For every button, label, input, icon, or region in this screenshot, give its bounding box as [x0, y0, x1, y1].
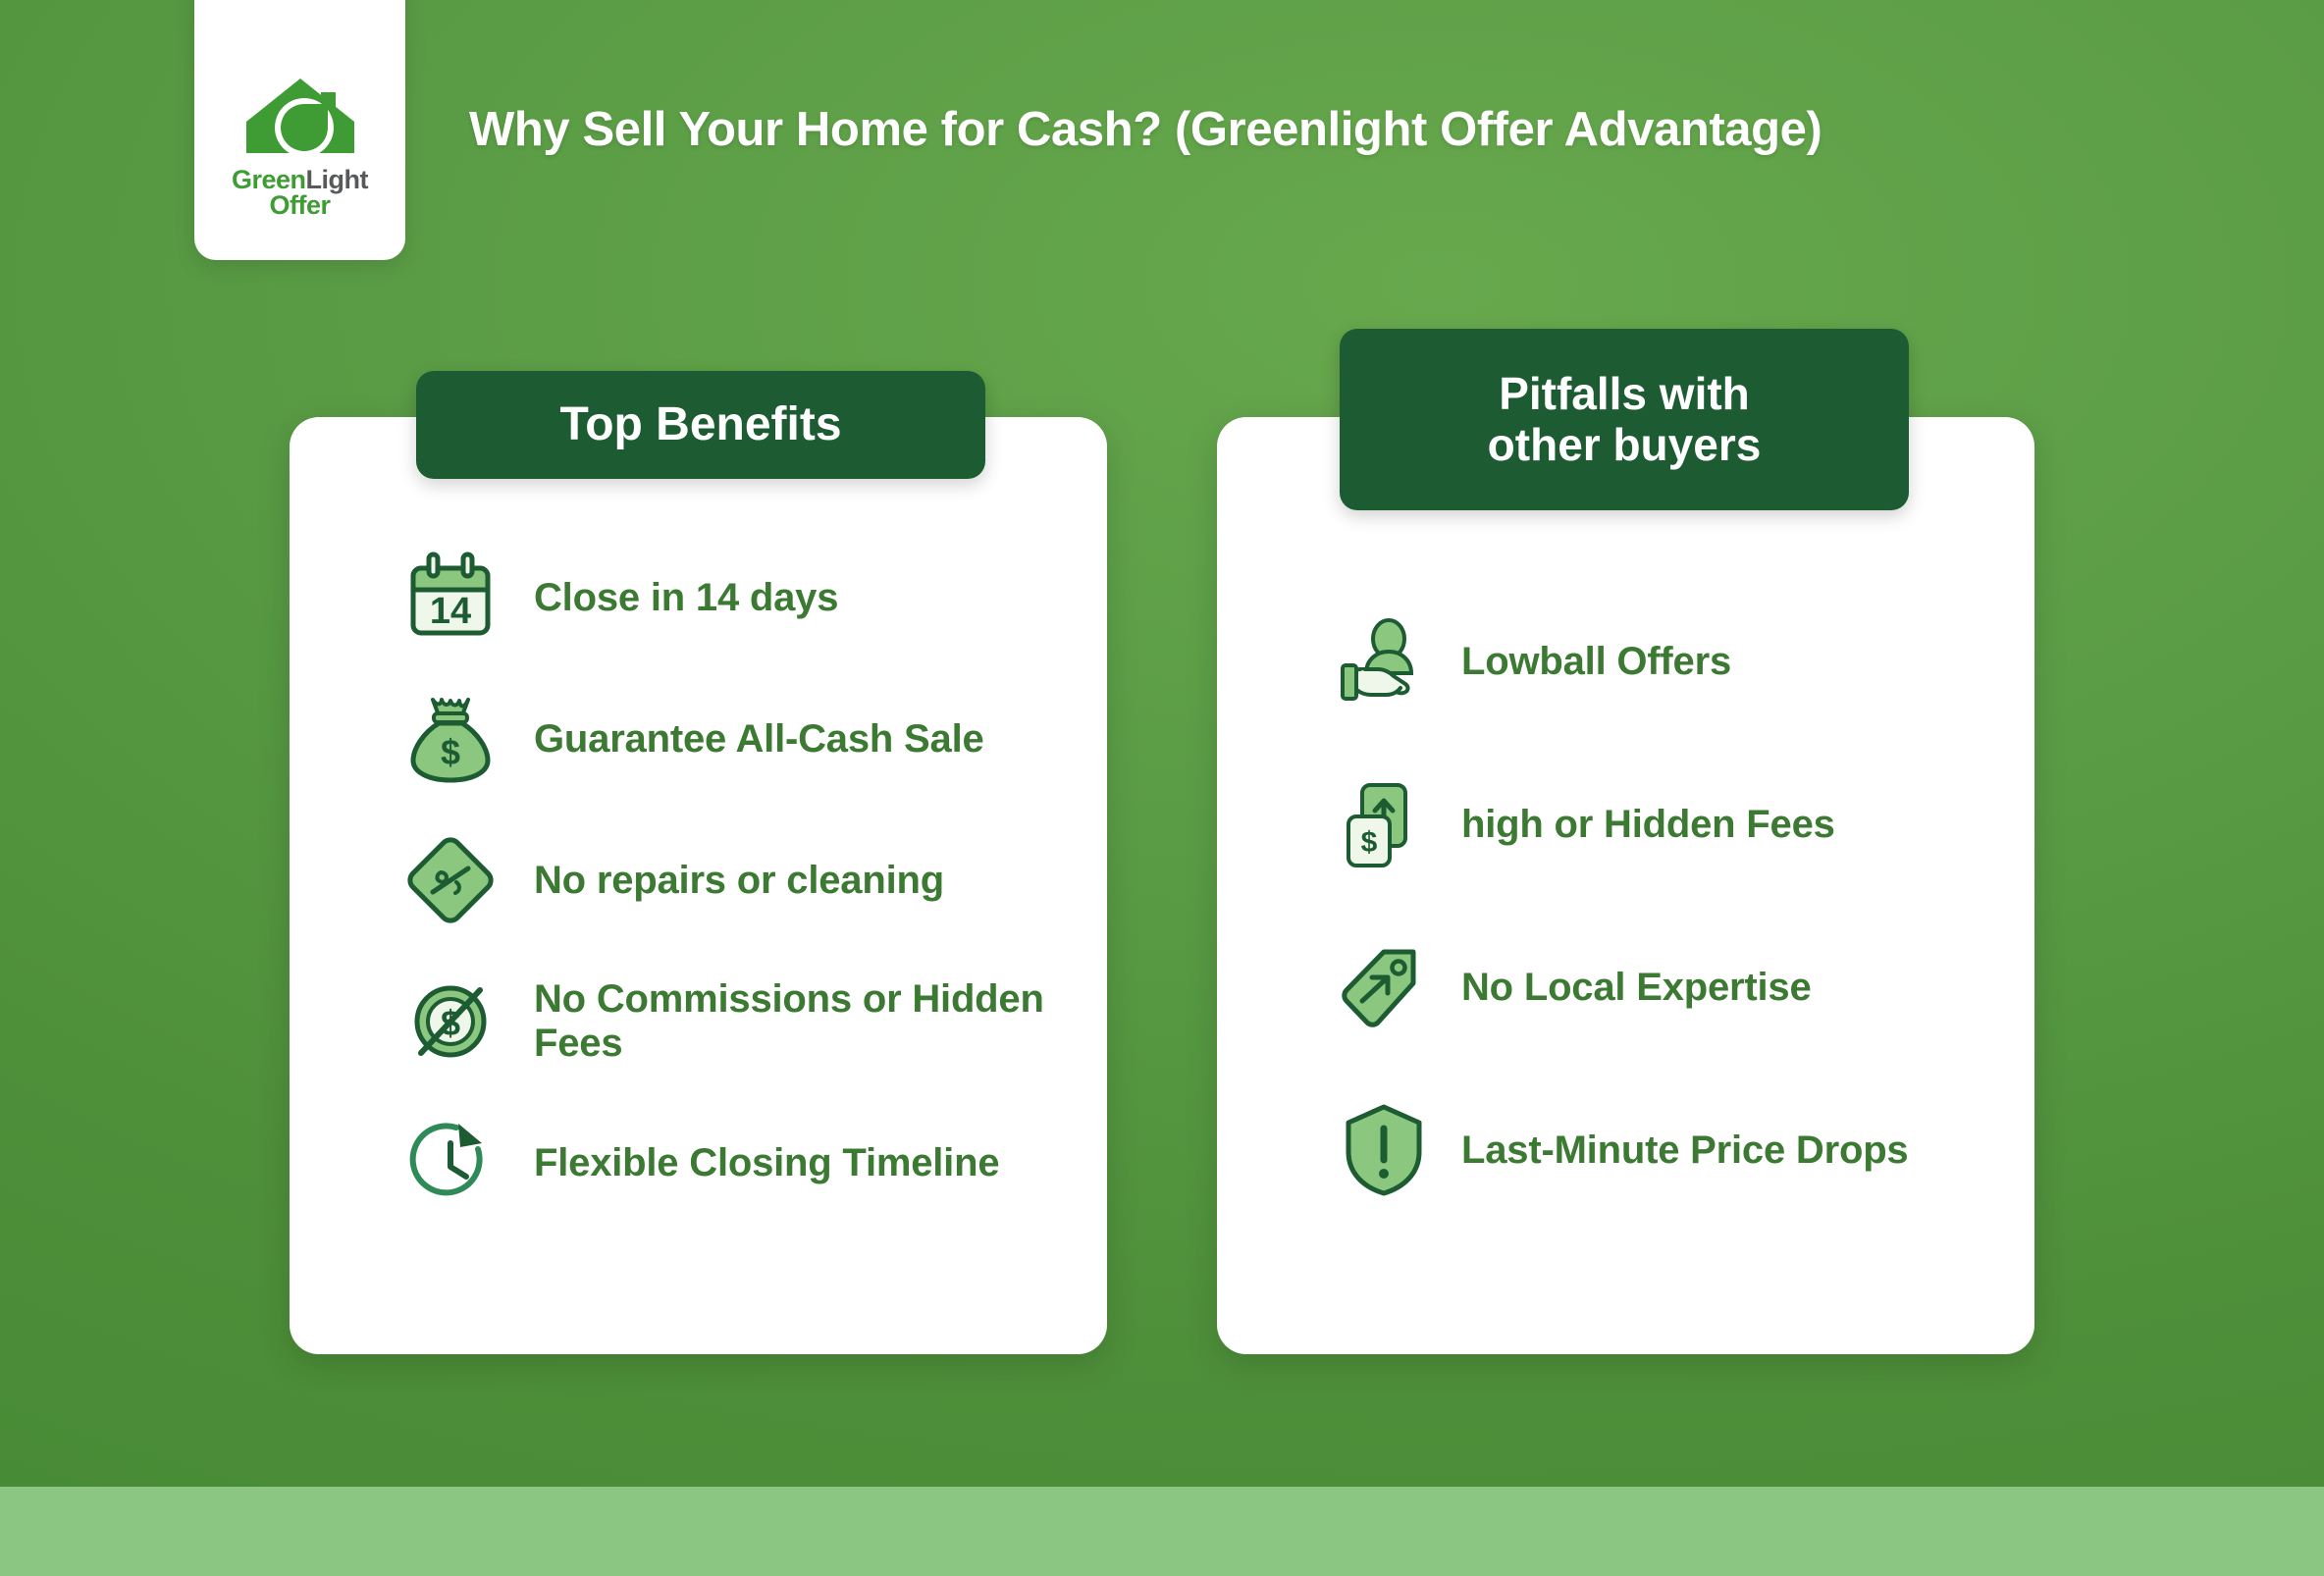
list-item: 14 Close in 14 days: [396, 545, 1064, 651]
no-dollar-circle-icon: $: [396, 969, 504, 1075]
list-item-label: Flexible Closing Timeline: [534, 1141, 999, 1185]
logo-wordmark: GreenLight: [212, 168, 389, 192]
pitfalls-badge-line2: other buyers: [1488, 419, 1762, 470]
list-item-label: high or Hidden Fees: [1461, 803, 1835, 847]
benefits-list: 14 Close in 14 days $ Guarantee All-Cash…: [396, 545, 1064, 1216]
calendar-14-icon: 14: [396, 545, 504, 651]
infographic-stage: GreenLight Offer Why Sell Your Home for …: [0, 0, 2324, 1576]
list-item-label: No repairs or cleaning: [534, 859, 944, 903]
list-item-label: Guarantee All-Cash Sale: [534, 717, 984, 762]
logo-card: GreenLight Offer: [194, 0, 405, 260]
list-item: No repairs or cleaning: [396, 827, 1064, 933]
list-item: No Local Expertise: [1330, 934, 1997, 1040]
bottom-band: [0, 1487, 2324, 1576]
pitfalls-badge-line1: Pitfalls with: [1499, 368, 1750, 419]
pitfalls-badge: Pitfalls with other buyers: [1340, 329, 1909, 510]
hand-person-icon: [1330, 608, 1438, 714]
no-repairs-diamond-icon: [396, 827, 504, 933]
pitfalls-list: Lowball Offers $ high or Hidden Fees: [1330, 608, 1997, 1203]
list-item-label: Lowball Offers: [1461, 640, 1731, 684]
money-bag-icon: $: [396, 686, 504, 792]
page-title: Why Sell Your Home for Cash? (Greenlight…: [469, 102, 2157, 157]
list-item: Lowball Offers: [1330, 608, 1997, 714]
list-item: $ No Commissions or Hidden Fees: [396, 969, 1064, 1075]
svg-text:$: $: [441, 732, 460, 772]
list-item: $ high or Hidden Fees: [1330, 771, 1997, 877]
list-item-label: Last-Minute Price Drops: [1461, 1129, 1908, 1173]
logo-word-offer: Offer: [212, 192, 389, 219]
svg-text:14: 14: [430, 591, 471, 632]
clock-arrow-icon: [396, 1110, 504, 1216]
list-item: Last-Minute Price Drops: [1330, 1097, 1997, 1203]
pitfalls-badge-text: Pitfalls with other buyers: [1488, 369, 1762, 470]
shield-exclamation-icon: [1330, 1097, 1438, 1203]
svg-text:$: $: [1361, 826, 1378, 859]
list-item: $ Guarantee All-Cash Sale: [396, 686, 1064, 792]
list-item: Flexible Closing Timeline: [396, 1110, 1064, 1216]
price-tag-arrow-icon: [1330, 934, 1438, 1040]
money-cards-up-arrow-icon: $: [1330, 771, 1438, 877]
list-item-label: Close in 14 days: [534, 576, 838, 620]
list-item-label: No Commissions or Hidden Fees: [534, 977, 1064, 1066]
house-g-logo-icon: [227, 73, 374, 166]
top-benefits-badge: Top Benefits: [416, 371, 985, 479]
list-item-label: No Local Expertise: [1461, 966, 1812, 1010]
